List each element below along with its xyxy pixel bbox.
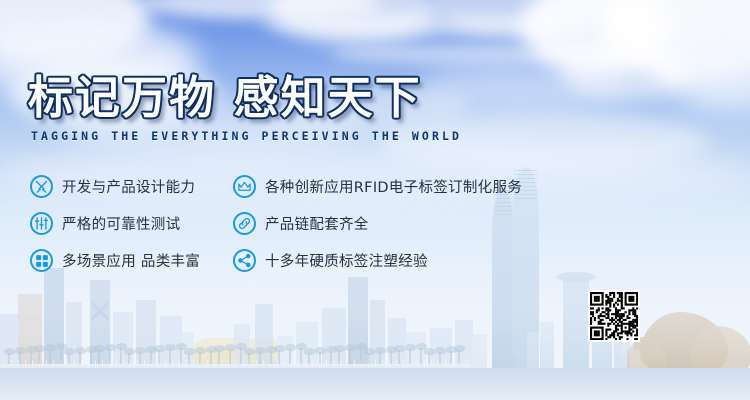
sliders-icon (30, 212, 53, 235)
tools-icon (30, 175, 53, 198)
crown-icon (233, 175, 256, 198)
page-title: 标记万物 感知天下 (28, 72, 462, 124)
feature-item-applications[interactable]: 多场景应用 品类丰富 (30, 242, 200, 279)
feature-column-right: 各种创新应用RFID电子标签订制化服务 产品链配套齐全 (233, 168, 522, 279)
feature-item-reliability[interactable]: 严格的可靠性测试 (30, 205, 200, 242)
qr-code[interactable] (588, 290, 640, 342)
waterfront-promenade (0, 364, 470, 374)
feature-label: 产品链配套齐全 (265, 213, 369, 234)
grid-icon (30, 249, 53, 272)
promo-banner: 标记万物 感知天下 TAGGING THE EVERYTHING PERCEIV… (0, 0, 750, 400)
page-subtitle: TAGGING THE EVERYTHING PERCEIVING THE WO… (31, 129, 462, 143)
feature-column-left: 开发与产品设计能力 严格的可靠性测试 (30, 168, 200, 279)
share-icon (233, 249, 256, 272)
qr-code-image (590, 292, 638, 340)
feature-label: 开发与产品设计能力 (62, 176, 195, 197)
feature-label: 各种创新应用RFID电子标签订制化服务 (265, 176, 522, 197)
link-icon (233, 212, 256, 235)
waterfront (0, 368, 750, 400)
title-block: 标记万物 感知天下 TAGGING THE EVERYTHING PERCEIV… (28, 72, 462, 143)
feature-item-rfid-service[interactable]: 各种创新应用RFID电子标签订制化服务 (233, 168, 522, 205)
feature-item-experience[interactable]: 十多年硬质标签注塑经验 (233, 242, 522, 279)
feature-item-supply-chain[interactable]: 产品链配套齐全 (233, 205, 522, 242)
feature-item-development[interactable]: 开发与产品设计能力 (30, 168, 200, 205)
feature-label: 多场景应用 品类丰富 (62, 250, 200, 271)
feature-label: 十多年硬质标签注塑经验 (265, 250, 428, 271)
feature-label: 严格的可靠性测试 (62, 213, 180, 234)
